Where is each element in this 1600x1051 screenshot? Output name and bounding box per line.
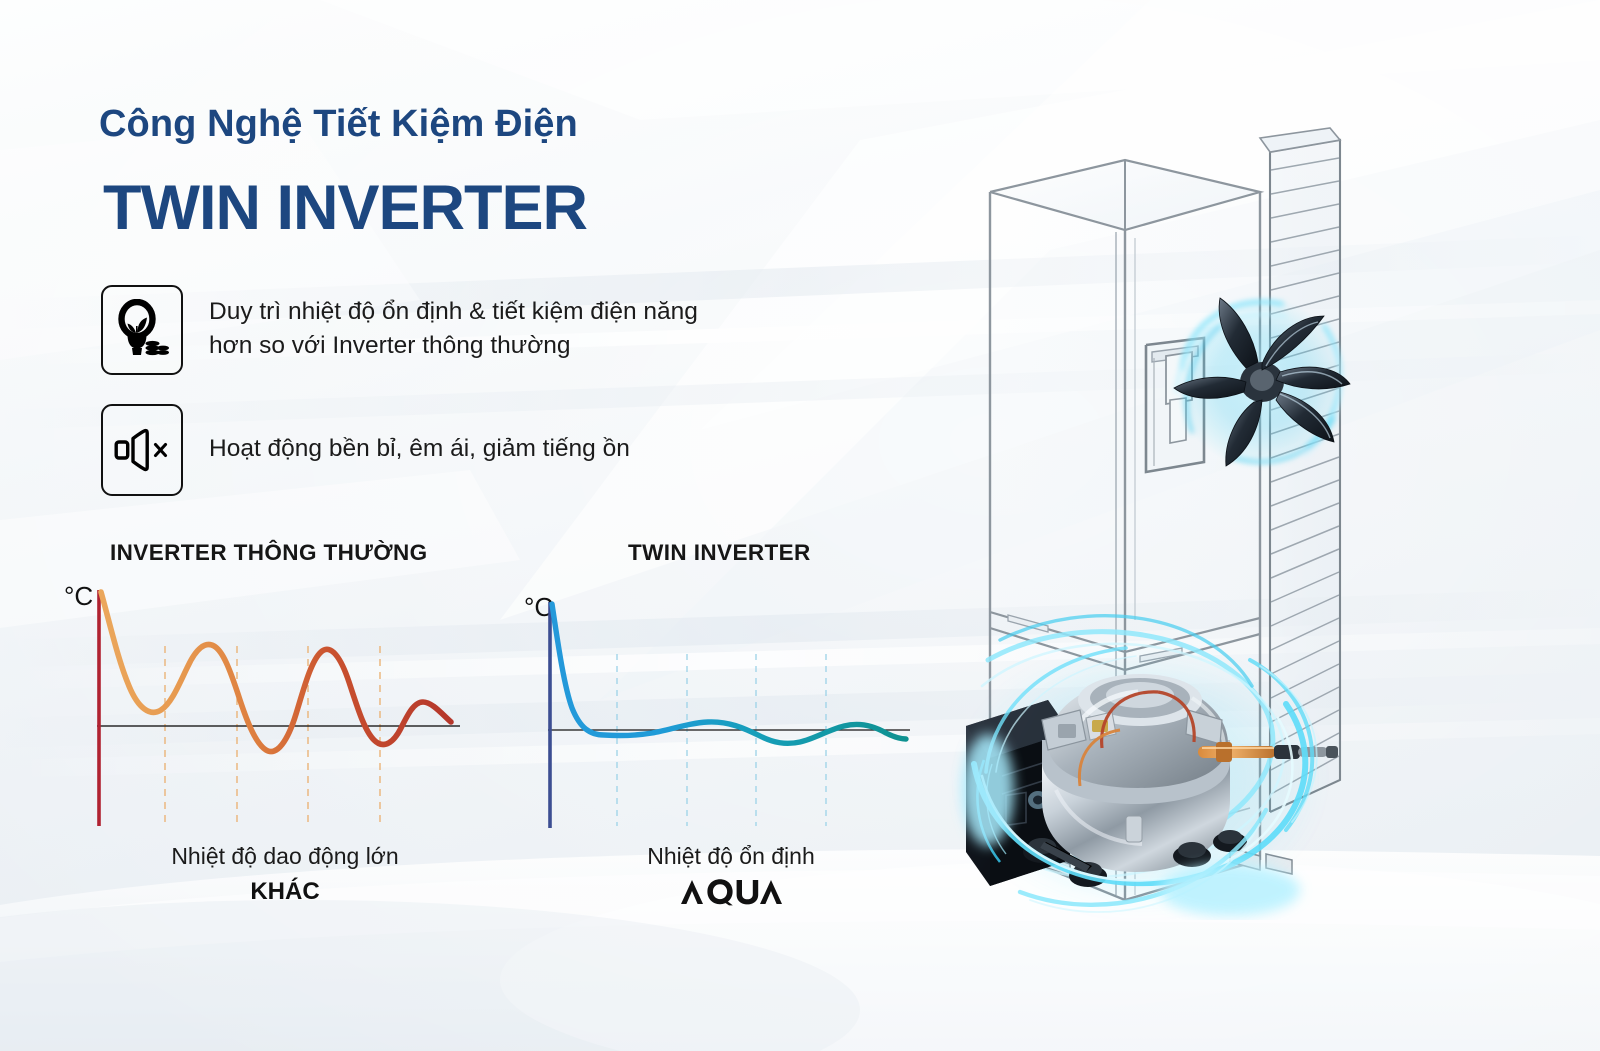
left-content-column: Công Nghệ Tiết Kiệm Điện TWIN INVERTER: [0, 0, 960, 1051]
chart-caption-twin: Nhiệt độ ổn định: [606, 843, 856, 913]
chart-gridlines: [617, 654, 826, 826]
chart-title-twin: TWIN INVERTER: [628, 540, 811, 566]
chart-conventional-inverter: [60, 578, 480, 838]
chart-title-conventional: INVERTER THÔNG THƯỜNG: [110, 540, 428, 566]
chart-series-line: [101, 592, 451, 752]
caption-text: Nhiệt độ dao động lớn: [160, 843, 410, 870]
brand-label-other: KHÁC: [160, 878, 410, 906]
chart-series-line: [552, 604, 906, 743]
feature-label: Duy trì nhiệt độ ổn định & tiết kiệm điệ…: [209, 285, 698, 363]
chart-caption-conventional: Nhiệt độ dao động lớn KHÁC: [160, 843, 410, 906]
feature-item-energy-saving: Duy trì nhiệt độ ổn định & tiết kiệm điệ…: [101, 285, 698, 375]
icon-frame: [101, 285, 183, 375]
page-eyebrow: Công Nghệ Tiết Kiệm Điện: [99, 103, 578, 146]
refrigerator-illustration: [930, 100, 1600, 920]
caption-text: Nhiệt độ ổn định: [606, 843, 856, 870]
chart-twin-inverter: [512, 588, 932, 838]
aqua-wordmark-icon: [679, 878, 783, 906]
feature-item-low-noise: Hoạt động bền bỉ, êm ái, giảm tiếng ồn: [101, 404, 630, 496]
feature-label: Hoạt động bền bỉ, êm ái, giảm tiếng ồn: [209, 404, 630, 466]
page-title: TWIN INVERTER: [103, 172, 587, 244]
icon-frame: [101, 404, 183, 496]
brand-logo-aqua: [606, 878, 856, 913]
speaker-mute-icon: [114, 427, 170, 473]
eco-bulb-coins-icon: [115, 299, 169, 361]
compressor-body: [1042, 674, 1230, 872]
